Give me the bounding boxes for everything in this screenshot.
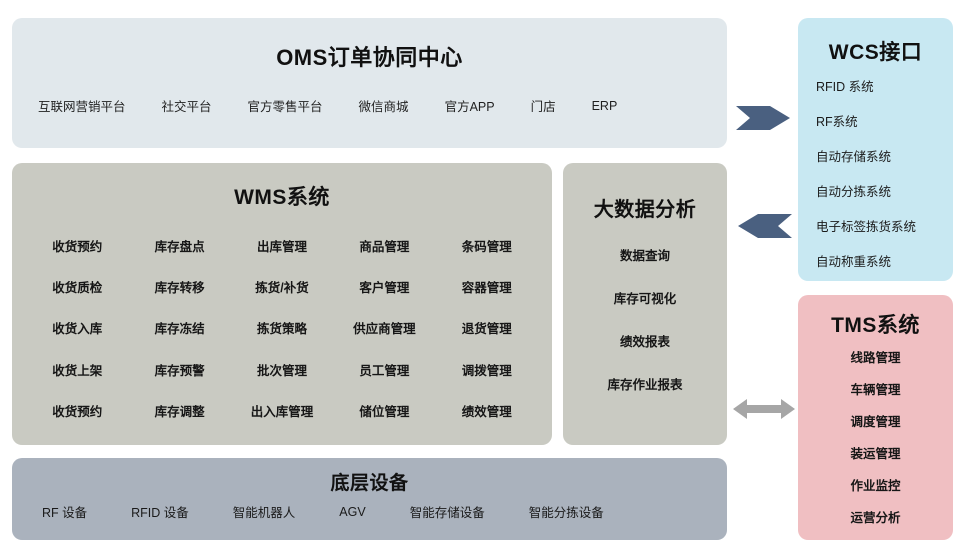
wms-panel: WMS系统 收货预约 库存盘点 出库管理 商品管理 条码管理 收货质检 库存转移… — [12, 163, 552, 445]
wms-module[interactable]: 收货质检 — [52, 277, 102, 296]
bigdata-item[interactable]: 绩效报表 — [620, 331, 670, 350]
wcs-item[interactable]: 自动存储系统 — [816, 146, 943, 165]
bigdata-item[interactable]: 库存可视化 — [614, 288, 677, 307]
bigdata-item[interactable]: 数据查询 — [620, 245, 670, 264]
wms-module[interactable]: 库存预警 — [155, 360, 205, 379]
chevron-arrow-right-icon — [736, 100, 792, 136]
double-arrow-icon — [733, 396, 795, 422]
device-panel-title: 底层设备 — [12, 468, 727, 495]
bigdata-panel: 大数据分析 数据查询 库存可视化 绩效报表 库存作业报表 — [563, 163, 727, 445]
tms-item[interactable]: 调度管理 — [850, 411, 900, 430]
wcs-panel-title: WCS接口 — [798, 36, 953, 66]
wms-module[interactable]: 库存盘点 — [155, 236, 205, 255]
wms-module[interactable]: 收货预约 — [52, 401, 102, 420]
wms-module[interactable]: 库存转移 — [155, 277, 205, 296]
wms-module-grid: 收货预约 库存盘点 出库管理 商品管理 条码管理 收货质检 库存转移 拣货/补货… — [26, 225, 538, 431]
chevron-arrow-left-icon — [736, 208, 792, 244]
wms-module[interactable]: 客户管理 — [359, 277, 409, 296]
device-item[interactable]: 智能分拣设备 — [529, 502, 604, 521]
tms-panel-title: TMS系统 — [798, 309, 953, 339]
tms-item[interactable]: 线路管理 — [850, 347, 900, 366]
oms-item[interactable]: 互联网营销平台 — [38, 96, 126, 115]
architecture-diagram: OMS订单协同中心 互联网营销平台 社交平台 官方零售平台 微信商城 官方APP… — [0, 0, 965, 552]
wms-module[interactable]: 批次管理 — [257, 360, 307, 379]
wms-module[interactable]: 拣货/补货 — [255, 277, 308, 296]
wms-module[interactable]: 条码管理 — [462, 236, 512, 255]
wms-module[interactable]: 储位管理 — [359, 401, 409, 420]
tms-item-list: 线路管理 车辆管理 调度管理 装运管理 作业监控 运营分析 — [798, 347, 953, 526]
wms-module[interactable]: 出库管理 — [257, 236, 307, 255]
wms-module[interactable]: 拣货策略 — [257, 318, 307, 337]
device-item[interactable]: AGV — [339, 505, 365, 519]
tms-panel: TMS系统 线路管理 车辆管理 调度管理 装运管理 作业监控 运营分析 — [798, 295, 953, 540]
device-item[interactable]: 智能机器人 — [233, 502, 296, 521]
tms-item[interactable]: 车辆管理 — [850, 379, 900, 398]
oms-panel: OMS订单协同中心 互联网营销平台 社交平台 官方零售平台 微信商城 官方APP… — [12, 18, 727, 148]
device-item-list: RF 设备 RFID 设备 智能机器人 AGV 智能存储设备 智能分拣设备 — [12, 502, 727, 521]
tms-item[interactable]: 作业监控 — [850, 475, 900, 494]
oms-item[interactable]: ERP — [592, 99, 618, 113]
wcs-item-list: RFID 系统 RF系统 自动存储系统 自动分拣系统 电子标签拣货系统 自动称重… — [816, 76, 943, 270]
oms-item[interactable]: 微信商城 — [359, 96, 409, 115]
device-item[interactable]: RF 设备 — [42, 502, 87, 521]
wms-module[interactable]: 员工管理 — [359, 360, 409, 379]
wms-module[interactable]: 供应商管理 — [353, 318, 416, 337]
wms-module[interactable]: 库存调整 — [155, 401, 205, 420]
device-item[interactable]: 智能存储设备 — [410, 502, 485, 521]
oms-item[interactable]: 门店 — [531, 96, 556, 115]
oms-item[interactable]: 社交平台 — [162, 96, 212, 115]
wcs-item[interactable]: RFID 系统 — [816, 76, 943, 95]
wms-panel-title: WMS系统 — [12, 181, 552, 211]
bigdata-item[interactable]: 库存作业报表 — [607, 374, 682, 393]
wcs-item[interactable]: 自动称重系统 — [816, 251, 943, 270]
device-panel: 底层设备 RF 设备 RFID 设备 智能机器人 AGV 智能存储设备 智能分拣… — [12, 458, 727, 540]
wcs-item[interactable]: RF系统 — [816, 111, 943, 130]
bigdata-panel-title: 大数据分析 — [563, 193, 727, 222]
wms-module[interactable]: 调拨管理 — [462, 360, 512, 379]
wcs-item[interactable]: 电子标签拣货系统 — [816, 216, 943, 235]
oms-item[interactable]: 官方零售平台 — [248, 96, 323, 115]
wms-module[interactable]: 绩效管理 — [462, 401, 512, 420]
wcs-item[interactable]: 自动分拣系统 — [816, 181, 943, 200]
wms-module[interactable]: 容器管理 — [462, 277, 512, 296]
tms-item[interactable]: 装运管理 — [850, 443, 900, 462]
wms-module[interactable]: 出入库管理 — [251, 401, 314, 420]
tms-item[interactable]: 运营分析 — [850, 507, 900, 526]
wms-module[interactable]: 收货预约 — [52, 236, 102, 255]
oms-item-list: 互联网营销平台 社交平台 官方零售平台 微信商城 官方APP 门店 ERP — [12, 96, 727, 115]
wms-module[interactable]: 收货入库 — [52, 318, 102, 337]
oms-item[interactable]: 官方APP — [445, 96, 495, 115]
bigdata-item-list: 数据查询 库存可视化 绩效报表 库存作业报表 — [563, 245, 727, 393]
device-item[interactable]: RFID 设备 — [131, 502, 189, 521]
wms-module[interactable]: 商品管理 — [359, 236, 409, 255]
oms-panel-title: OMS订单协同中心 — [12, 40, 727, 72]
wcs-panel: WCS接口 RFID 系统 RF系统 自动存储系统 自动分拣系统 电子标签拣货系… — [798, 18, 953, 281]
wms-module[interactable]: 库存冻结 — [155, 318, 205, 337]
wms-module[interactable]: 收货上架 — [52, 360, 102, 379]
wms-module[interactable]: 退货管理 — [462, 318, 512, 337]
